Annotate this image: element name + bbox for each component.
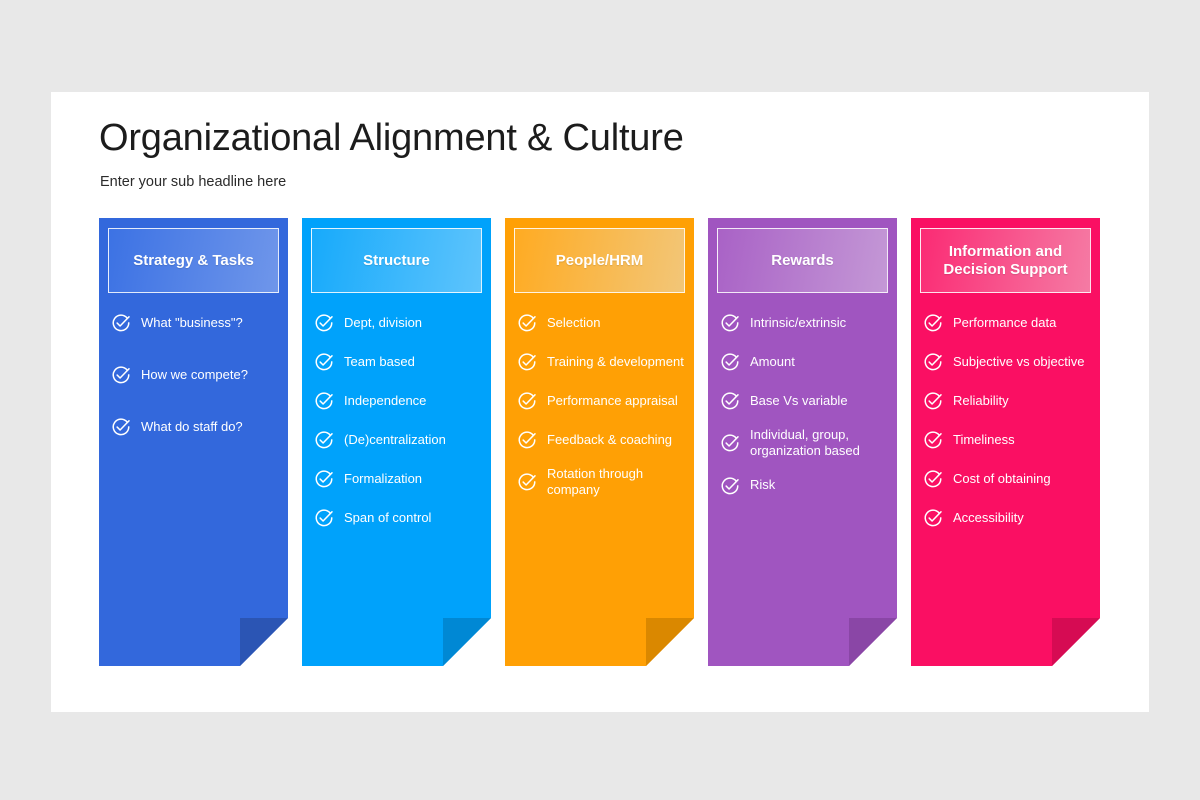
column-item-list: Intrinsic/extrinsicAmountBase Vs variabl… [720, 310, 889, 499]
column-header-2[interactable]: Structure [311, 228, 482, 293]
check-circle-icon [720, 476, 740, 496]
check-circle-icon [720, 433, 740, 453]
check-circle-icon [111, 313, 131, 333]
list-item[interactable]: Reliability [923, 388, 1092, 414]
column-header-1[interactable]: Strategy & Tasks [108, 228, 279, 293]
check-circle-icon [517, 430, 537, 450]
list-item-label: Amount [750, 354, 795, 370]
column-item-list: Dept, divisionTeam basedIndependence(De)… [314, 310, 483, 531]
check-circle-icon [517, 472, 537, 492]
check-circle-icon [923, 508, 943, 528]
column-1[interactable]: Strategy & TasksWhat "business"?How we c… [99, 218, 288, 666]
check-circle-icon [923, 313, 943, 333]
list-item[interactable]: Training & development [517, 349, 686, 375]
list-item-label: Accessibility [953, 510, 1024, 526]
check-circle-icon [314, 508, 334, 528]
slide-stage: Organizational Alignment & Culture Enter… [0, 0, 1200, 800]
column-header-label: Rewards [765, 252, 840, 270]
column-header-label: Structure [357, 252, 436, 270]
column-header-4[interactable]: Rewards [717, 228, 888, 293]
slide-canvas: Organizational Alignment & Culture Enter… [51, 92, 1149, 712]
column-4[interactable]: RewardsIntrinsic/extrinsicAmountBase Vs … [708, 218, 897, 666]
check-circle-icon [720, 352, 740, 372]
list-item[interactable]: Formalization [314, 466, 483, 492]
check-circle-icon [314, 352, 334, 372]
list-item[interactable]: Subjective vs objective [923, 349, 1092, 375]
list-item[interactable]: Rotation through company [517, 466, 686, 499]
column-group: Strategy & TasksWhat "business"?How we c… [99, 218, 1105, 666]
list-item-label: Team based [344, 354, 415, 370]
list-item-label: Performance appraisal [547, 393, 678, 409]
list-item-label: Performance data [953, 315, 1056, 331]
list-item[interactable]: Dept, division [314, 310, 483, 336]
list-item-label: (De)centralization [344, 432, 446, 448]
check-circle-icon [923, 352, 943, 372]
list-item[interactable]: How we compete? [111, 362, 280, 388]
check-circle-icon [314, 469, 334, 489]
column-header-label: People/HRM [550, 252, 650, 270]
list-item-label: Dept, division [344, 315, 422, 331]
check-circle-icon [720, 313, 740, 333]
check-circle-icon [720, 391, 740, 411]
check-circle-icon [517, 352, 537, 372]
folded-corner [240, 618, 288, 666]
list-item[interactable]: Accessibility [923, 505, 1092, 531]
list-item-label: Base Vs variable [750, 393, 848, 409]
list-item[interactable]: Cost of obtaining [923, 466, 1092, 492]
column-header-label: Strategy & Tasks [127, 252, 260, 270]
folded-corner [849, 618, 897, 666]
list-item-label: Cost of obtaining [953, 471, 1051, 487]
list-item-label: Individual, group, organization based [750, 427, 889, 460]
list-item[interactable]: Intrinsic/extrinsic [720, 310, 889, 336]
list-item[interactable]: Feedback & coaching [517, 427, 686, 453]
column-3[interactable]: People/HRMSelectionTraining & developmen… [505, 218, 694, 666]
list-item-label: Timeliness [953, 432, 1015, 448]
column-item-list: Performance dataSubjective vs objectiveR… [923, 310, 1092, 531]
list-item[interactable]: Timeliness [923, 427, 1092, 453]
list-item-label: Rotation through company [547, 466, 686, 499]
list-item-label: Feedback & coaching [547, 432, 672, 448]
column-header-3[interactable]: People/HRM [514, 228, 685, 293]
column-5[interactable]: Information and Decision SupportPerforma… [911, 218, 1100, 666]
folded-corner [646, 618, 694, 666]
check-circle-icon [314, 391, 334, 411]
check-circle-icon [517, 313, 537, 333]
column-item-list: SelectionTraining & developmentPerforman… [517, 310, 686, 499]
list-item-label: Subjective vs objective [953, 354, 1085, 370]
list-item[interactable]: Performance appraisal [517, 388, 686, 414]
list-item-label: Selection [547, 315, 600, 331]
list-item[interactable]: Individual, group, organization based [720, 427, 889, 460]
check-circle-icon [111, 365, 131, 385]
list-item[interactable]: Base Vs variable [720, 388, 889, 414]
check-circle-icon [923, 391, 943, 411]
list-item[interactable]: What "business"? [111, 310, 280, 336]
folded-corner [443, 618, 491, 666]
list-item-label: What do staff do? [141, 419, 243, 435]
check-circle-icon [111, 417, 131, 437]
check-circle-icon [923, 430, 943, 450]
list-item-label: Formalization [344, 471, 422, 487]
column-item-list: What "business"?How we compete?What do s… [111, 310, 280, 440]
column-header-5[interactable]: Information and Decision Support [920, 228, 1091, 293]
list-item-label: What "business"? [141, 315, 243, 331]
folded-corner [1052, 618, 1100, 666]
check-circle-icon [923, 469, 943, 489]
column-2[interactable]: StructureDept, divisionTeam basedIndepen… [302, 218, 491, 666]
list-item[interactable]: Team based [314, 349, 483, 375]
list-item-label: How we compete? [141, 367, 248, 383]
list-item[interactable]: Risk [720, 473, 889, 499]
column-header-label: Information and Decision Support [921, 243, 1090, 279]
check-circle-icon [314, 313, 334, 333]
list-item-label: Intrinsic/extrinsic [750, 315, 846, 331]
check-circle-icon [517, 391, 537, 411]
list-item[interactable]: Span of control [314, 505, 483, 531]
check-circle-icon [314, 430, 334, 450]
page-subtitle: Enter your sub headline here [100, 174, 286, 190]
page-title: Organizational Alignment & Culture [99, 117, 684, 160]
list-item-label: Span of control [344, 510, 431, 526]
list-item[interactable]: (De)centralization [314, 427, 483, 453]
list-item-label: Training & development [547, 354, 684, 370]
list-item[interactable]: Amount [720, 349, 889, 375]
list-item-label: Reliability [953, 393, 1009, 409]
list-item-label: Independence [344, 393, 426, 409]
list-item[interactable]: Selection [517, 310, 686, 336]
list-item[interactable]: What do staff do? [111, 414, 280, 440]
list-item-label: Risk [750, 477, 775, 493]
list-item[interactable]: Independence [314, 388, 483, 414]
list-item[interactable]: Performance data [923, 310, 1092, 336]
